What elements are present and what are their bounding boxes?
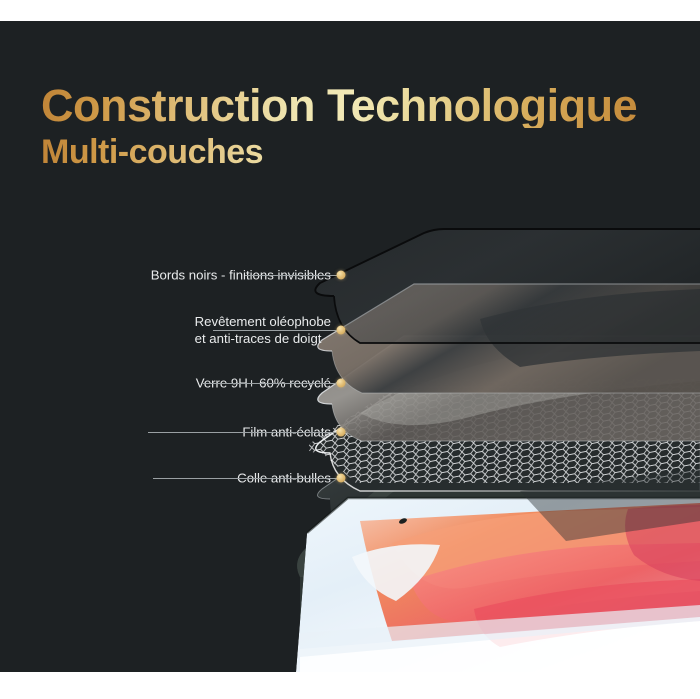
dark-panel: Construction Technologique Multi-couches… xyxy=(0,21,700,672)
leader-line-revetement-oleophobe xyxy=(213,330,341,331)
anchor-dot-bords-noirs xyxy=(337,271,346,280)
callout-label-line1: Revêtement oléophobe xyxy=(195,314,331,329)
layer-adhesive xyxy=(318,445,700,541)
leader-line-bords-noirs xyxy=(245,275,341,276)
callout-label-line2: et anti-traces de doigt xyxy=(195,330,331,347)
layer-shatter-film xyxy=(300,371,700,501)
shatter-film-overhang xyxy=(520,469,700,541)
anchor-dot-colle-anti-bulles xyxy=(337,474,346,483)
layer-oleophobic-coating xyxy=(318,284,700,393)
phone-device xyxy=(296,478,700,672)
layer-black-edge-glass xyxy=(315,229,700,343)
infographic-stage: Construction Technologique Multi-couches… xyxy=(0,0,700,699)
leader-line-colle-anti-bulles xyxy=(153,478,341,479)
camera-punch-hole xyxy=(398,517,408,525)
layer-recycled-glass xyxy=(318,336,700,441)
page-subtitle: Multi-couches xyxy=(41,135,661,169)
page-title: Construction Technologique xyxy=(41,83,661,128)
anchor-dot-verre-9h xyxy=(337,379,346,388)
anchor-dot-revetement-oleophobe xyxy=(337,326,346,335)
leader-line-verre-9h xyxy=(203,383,341,384)
heading-block: Construction Technologique Multi-couches xyxy=(41,83,661,169)
leader-line-film-anti-eclats xyxy=(148,432,341,433)
anchor-dot-film-anti-eclats xyxy=(337,428,346,437)
